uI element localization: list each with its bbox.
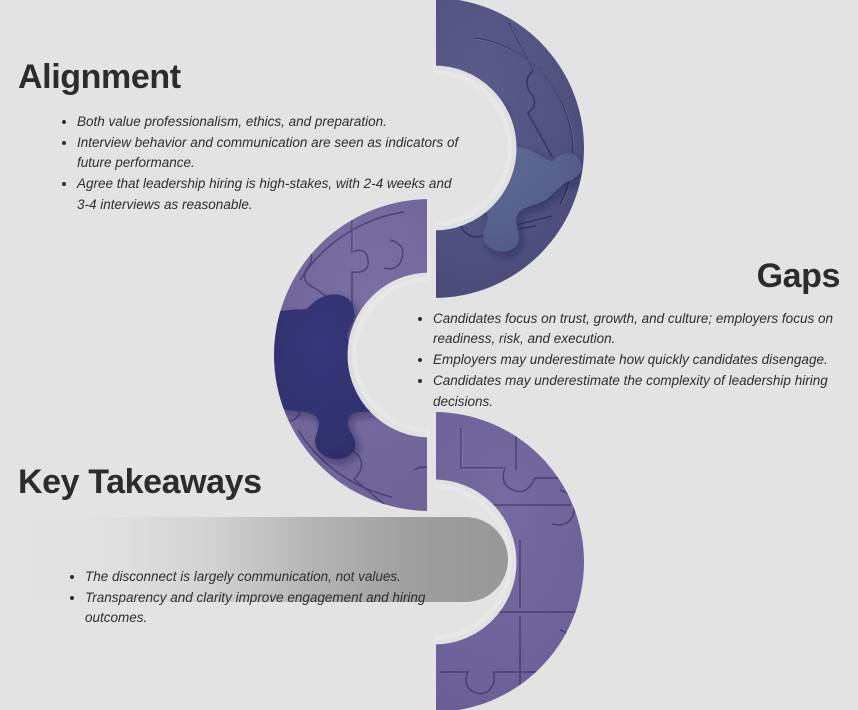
section-key-takeaways: Key Takeaways The disconnect is largely … (18, 465, 488, 629)
list-item: Transparency and clarity improve engagem… (68, 588, 448, 629)
list-item: Candidates focus on trust, growth, and c… (416, 309, 840, 350)
alignment-title: Alignment (18, 60, 473, 96)
list-item: Both value professionalism, ethics, and … (60, 112, 460, 132)
infographic-canvas: Alignment Both value professionalism, et… (0, 0, 858, 710)
alignment-bullet-list: Both value professionalism, ethics, and … (60, 112, 460, 215)
list-item: Agree that leadership hiring is high-sta… (60, 174, 460, 215)
list-item: Interview behavior and communication are… (60, 133, 460, 174)
gaps-bullet-list: Candidates focus on trust, growth, and c… (416, 309, 840, 412)
section-gaps: Gaps Candidates focus on trust, growth, … (400, 259, 840, 413)
gaps-title: Gaps (400, 259, 840, 295)
section-alignment: Alignment Both value professionalism, et… (18, 60, 473, 216)
key-takeaways-bullet-list: The disconnect is largely communication,… (68, 567, 448, 629)
list-item: The disconnect is largely communication,… (68, 567, 448, 587)
puzzle-piece-highlight-middle (272, 294, 396, 459)
list-item: Candidates may underestimate the complex… (416, 371, 840, 412)
list-item: Employers may underestimate how quickly … (416, 350, 840, 370)
key-takeaways-title: Key Takeaways (18, 465, 488, 501)
